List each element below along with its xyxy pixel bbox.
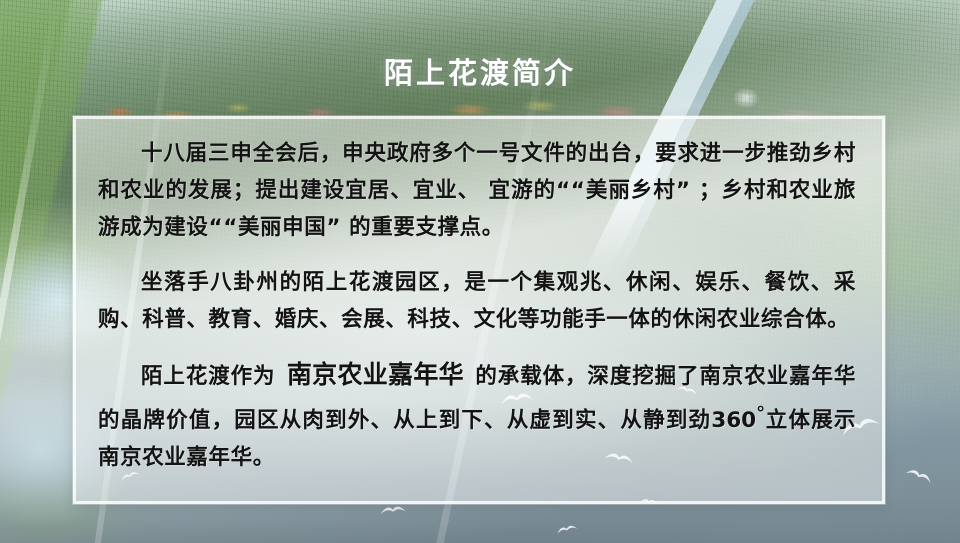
content-panel: 十八届三申全会后，申央政府多个一号文件的出台，要求进一步推劲乡村和农业的发展；提…: [73, 116, 885, 504]
degree-number: 360: [711, 408, 756, 433]
page-title: 陌上花渡简介: [0, 50, 960, 92]
paragraph-1: 十八届三申全会后，申央政府多个一号文件的出台，要求进一步推劲乡村和农业的发展；提…: [98, 135, 856, 246]
paragraph-3-lead: 陌上花渡作为: [141, 364, 284, 389]
slide-canvas: 陌上花渡简介 十八届三申全会后，申央政府多个一号文件的出台，要求进一步推劲乡村和…: [0, 0, 960, 543]
degree-symbol: °: [756, 403, 765, 424]
brand-name-highlight: 南京农业嘉年华: [284, 360, 467, 389]
paragraph-3: 陌上花渡作为 南京农业嘉年华 的承载体，深度挖掘了南京农业嘉年华的晶牌价值，园区…: [98, 356, 856, 476]
paragraph-2: 坐落手八卦州的陌上花渡园区，是一个集观兆、休闲、娱乐、餐饮、采购、科普、教育、婚…: [98, 264, 856, 338]
